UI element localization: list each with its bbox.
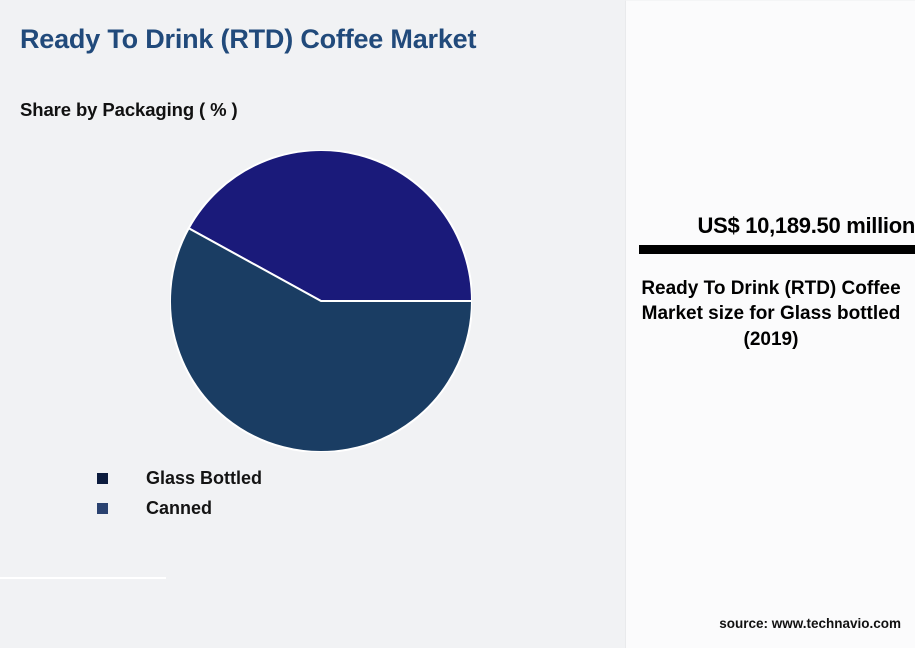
- callout-description: Ready To Drink (RTD) Coffee Market size …: [636, 276, 906, 352]
- callout-value: US$ 10,189.50 million: [639, 213, 915, 239]
- legend-item-glass-bottled[interactable]: Glass Bottled: [97, 463, 517, 493]
- pie-chart: [170, 150, 472, 452]
- chart-subtitle: Share by Packaging ( % ): [20, 99, 238, 121]
- divider: [0, 577, 166, 579]
- callout-panel: US$ 10,189.50 million Ready To Drink (RT…: [625, 0, 915, 648]
- source-label: source: www.technavio.com: [626, 616, 901, 631]
- legend-label: Glass Bottled: [146, 468, 262, 489]
- chart-legend: Glass Bottled Canned: [97, 463, 517, 523]
- chart-page: Ready To Drink (RTD) Coffee Market Share…: [0, 0, 915, 648]
- legend-label: Canned: [146, 498, 212, 519]
- legend-item-canned[interactable]: Canned: [97, 493, 517, 523]
- legend-swatch-icon: [97, 473, 108, 484]
- callout-accent-bar: [639, 245, 915, 254]
- chart-title: Ready To Drink (RTD) Coffee Market: [20, 24, 490, 55]
- chart-panel: Ready To Drink (RTD) Coffee Market Share…: [0, 0, 625, 648]
- pie-chart-svg: [170, 150, 472, 452]
- legend-swatch-icon: [97, 503, 108, 514]
